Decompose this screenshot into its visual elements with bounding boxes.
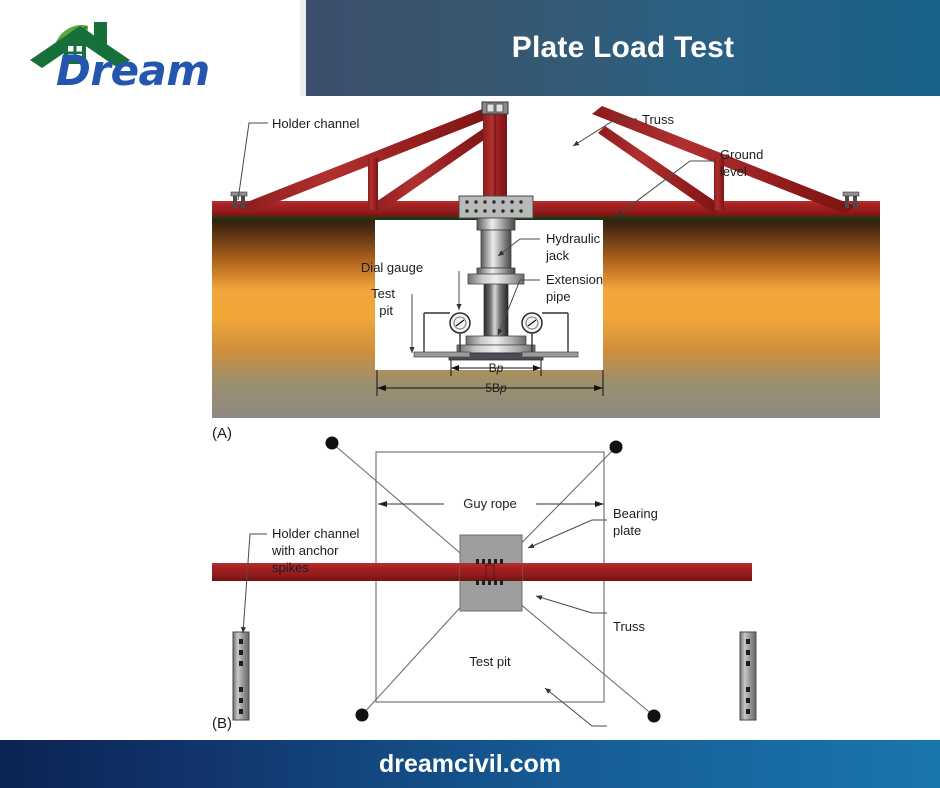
brand-logo[interactable]: Dream Civil <box>18 12 302 92</box>
guy-anchor-bottom-right <box>648 710 661 723</box>
label-test-pit-line1: Test <box>371 286 395 301</box>
header-bar: Plate Load Test <box>306 0 940 96</box>
label-holder-channel-b-l3: spikes <box>272 560 309 575</box>
panel-a-caption: (A) <box>212 425 232 442</box>
guy-anchor-top-right <box>610 441 623 454</box>
dim-pit-width-sub: p <box>499 381 507 395</box>
holder-channel-left-plan <box>233 632 249 720</box>
label-holder-channel-b-l1: Holder channel <box>272 526 360 541</box>
footer-bar: dreamcivil.com <box>0 740 940 788</box>
label-truss-a: Truss <box>642 112 675 127</box>
label-holder-channel-a: Holder channel <box>272 116 360 131</box>
label-ground-level-line2: level <box>720 164 747 179</box>
label-test-pit-b: Test pit <box>469 654 511 669</box>
page-title: Plate Load Test <box>306 0 940 96</box>
label-dial-gauge: Dial gauge <box>361 260 423 275</box>
label-ground-level-line1: Ground <box>720 147 763 162</box>
panel-b-plan-view: Guy rope Holder channel with anchor spik… <box>212 437 756 733</box>
svg-text:5Bp: 5Bp <box>485 381 507 395</box>
main-beam <box>212 201 880 217</box>
guy-rope-callout: Guy rope <box>378 496 604 511</box>
label-bearing-plate-l1: Bearing <box>613 506 658 521</box>
label-guy-rope: Guy rope <box>463 496 516 511</box>
panel-a-section-view: Holder channel Truss Ground level Hydrau… <box>212 102 880 442</box>
label-test-pit-line2: pit <box>379 303 393 318</box>
label-bearing-plate-l2: plate <box>613 523 641 538</box>
dim-plate-width-prefix: B <box>489 361 497 375</box>
footer-site-name: dreamcivil.com <box>0 740 940 788</box>
slide-canvas: Dream Civil Plate Load Test <box>0 0 940 788</box>
gusset-plate <box>459 196 533 218</box>
plate-load-test-diagram: Holder channel Truss Ground level Hydrau… <box>0 96 940 740</box>
dim-pit-width-prefix: 5B <box>485 381 500 395</box>
figure-area: Holder channel Truss Ground level Hydrau… <box>0 96 940 740</box>
label-hydraulic-jack-line1: Hydraulic <box>546 231 601 246</box>
guy-anchor-top-left <box>326 437 339 450</box>
svg-text:Bp: Bp <box>489 361 504 375</box>
panel-b-caption: (B) <box>212 715 232 732</box>
label-hydraulic-jack-line2: jack <box>545 248 570 263</box>
label-extension-pipe-line1: Extension <box>546 272 603 287</box>
label-truss-b: Truss <box>613 619 646 634</box>
label-extension-pipe-line2: pipe <box>546 289 571 304</box>
guy-anchor-bottom-left <box>356 709 369 722</box>
dim-plate-width-sub: p <box>496 361 504 375</box>
holder-channel-right-plan <box>740 632 756 720</box>
label-holder-channel-b-l2: with anchor <box>271 543 339 558</box>
beam-over-plate <box>460 563 522 581</box>
